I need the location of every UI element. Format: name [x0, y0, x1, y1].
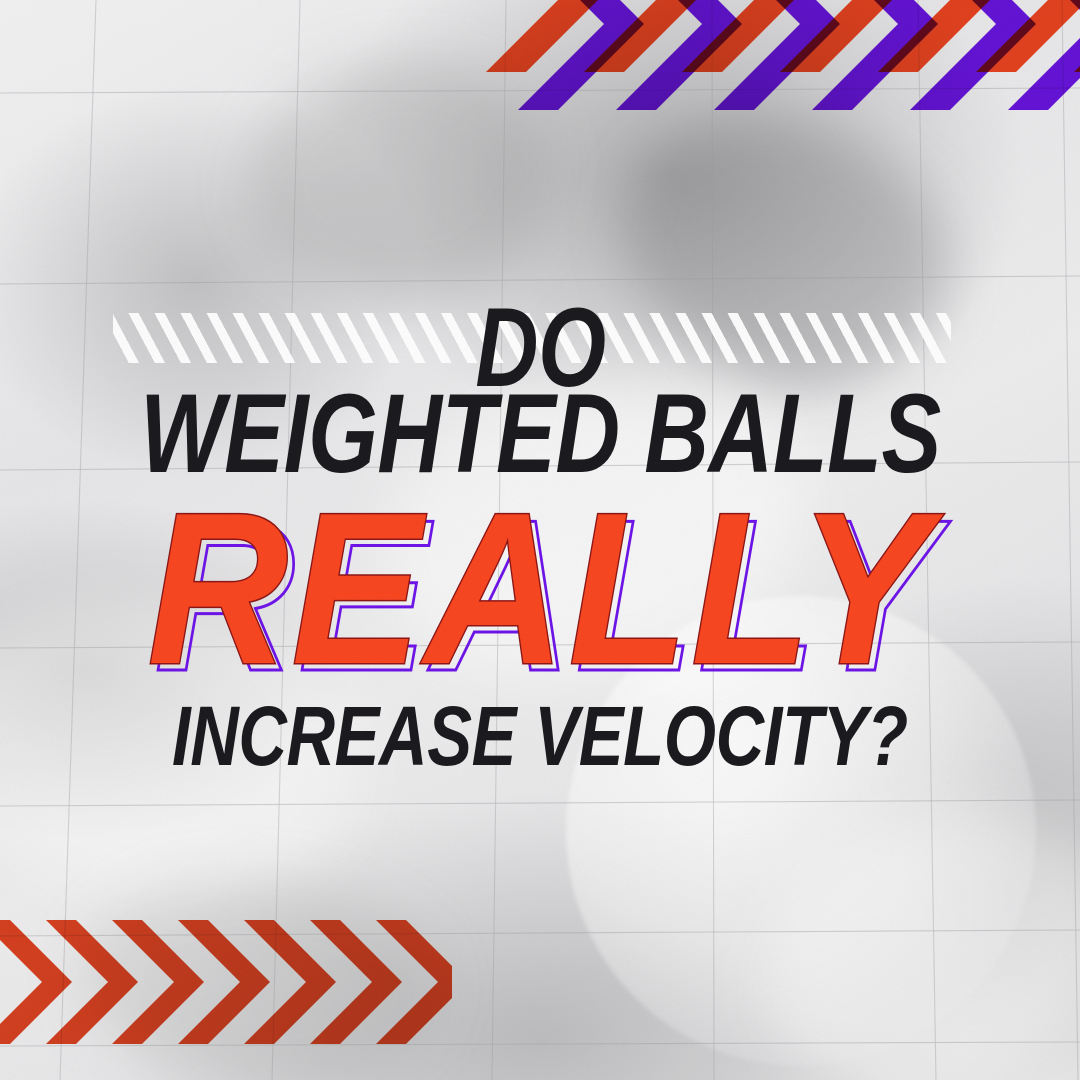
poster-canvas: DO WEIGHTED BALLS REALLY REALLY REALLY I…: [0, 0, 1080, 1080]
noise-texture-light: [0, 0, 1080, 1080]
